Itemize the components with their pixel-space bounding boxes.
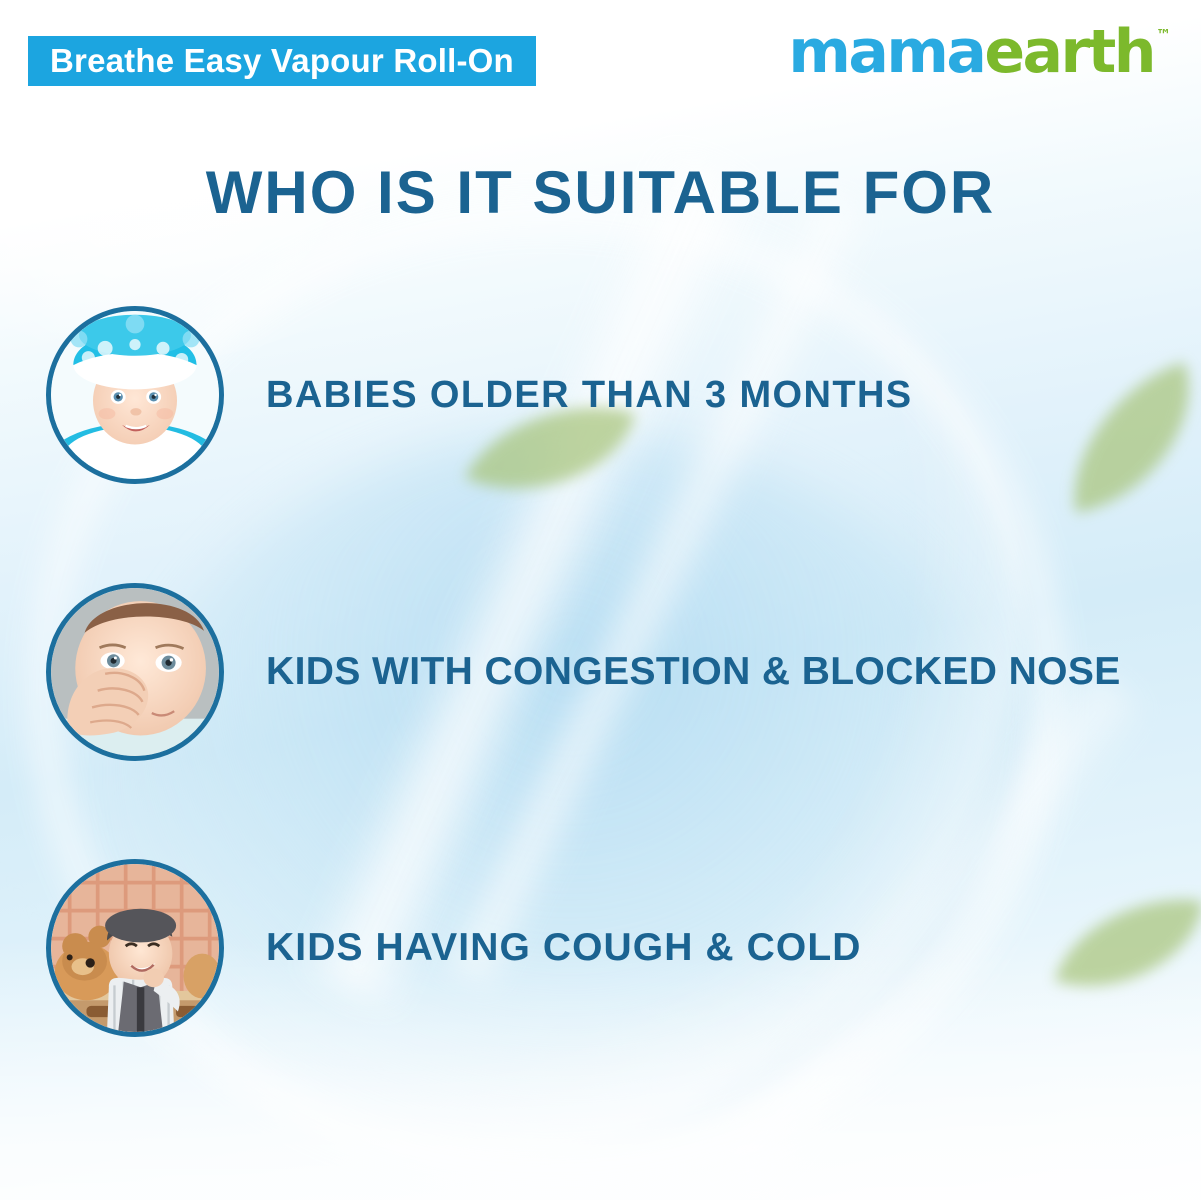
list-item-label: BABIES OLDER THAN 3 MONTHS bbox=[266, 374, 913, 417]
list-item-label: KIDS WITH CONGESTION & BLOCKED NOSE bbox=[266, 650, 1121, 694]
list-item: KIDS HAVING COUGH & COLD bbox=[0, 858, 1201, 1038]
baby-touching-nose-photo bbox=[46, 583, 224, 761]
product-name-banner: Breathe Easy Vapour Roll-On bbox=[28, 36, 536, 86]
promo-image-root: Breathe Easy Vapour Roll-On mamaearth ™ … bbox=[0, 0, 1201, 1200]
logo-wordmark: mamaearth bbox=[788, 22, 1154, 82]
list-item: BABIES OLDER THAN 3 MONTHS bbox=[0, 305, 1201, 485]
trademark-symbol: ™ bbox=[1156, 26, 1171, 44]
list-item: KIDS WITH CONGESTION & BLOCKED NOSE bbox=[0, 582, 1201, 762]
product-name-text: Breathe Easy Vapour Roll-On bbox=[50, 42, 514, 80]
toddler-with-teddy-bear-photo bbox=[46, 859, 224, 1037]
logo-mama-text: mama bbox=[788, 17, 984, 87]
page-title: WHO IS IT SUITABLE FOR bbox=[0, 158, 1201, 227]
logo-earth-text: earth bbox=[984, 17, 1154, 87]
mamaearth-logo: mamaearth ™ bbox=[788, 22, 1171, 82]
list-item-label: KIDS HAVING COUGH & COLD bbox=[266, 926, 862, 970]
baby-in-blue-winter-hat-photo bbox=[46, 306, 224, 484]
